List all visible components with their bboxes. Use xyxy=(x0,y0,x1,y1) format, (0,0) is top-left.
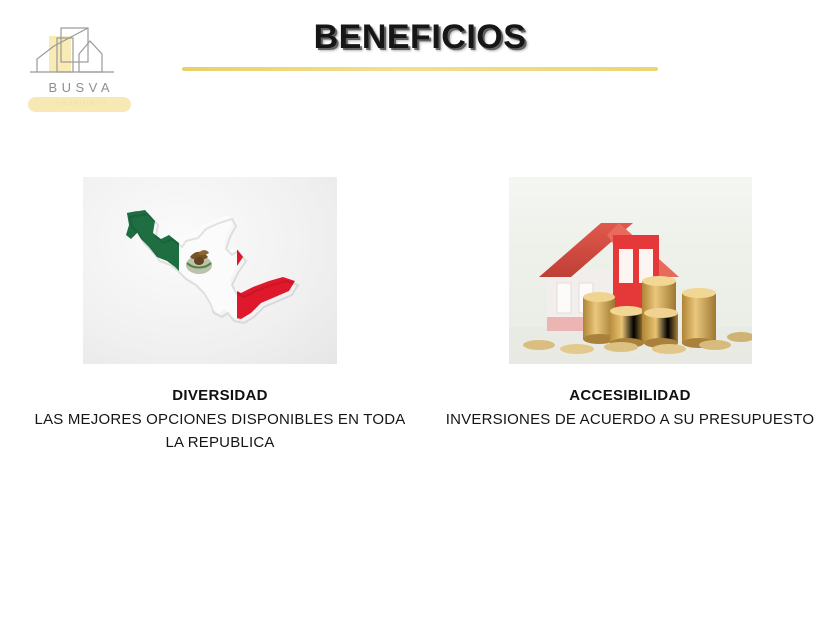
logo-wordmark: BUSVA xyxy=(24,80,134,95)
benefit-card-accesibilidad xyxy=(420,177,840,364)
title-underline-rule xyxy=(182,67,658,71)
map-of-mexico-flag-icon xyxy=(83,177,337,364)
benefit-caption-diversidad: DIVERSIDAD LAS MEJORES OPCIONES DISPONIB… xyxy=(10,386,430,454)
building-outline-icon xyxy=(24,24,134,86)
benefit-heading: ACCESIBILIDAD xyxy=(420,386,840,406)
house-coins-image xyxy=(509,177,752,364)
page-title: BENEFICIOS xyxy=(180,18,660,57)
benefit-description: LAS MEJORES OPCIONES DISPONIBLES EN TODA… xyxy=(10,408,430,454)
benefit-caption-accesibilidad: ACCESIBILIDAD INVERSIONES DE ACUERDO A S… xyxy=(420,386,840,431)
logo-tagline: inmobiliaria xyxy=(28,98,131,111)
benefit-card-diversidad xyxy=(0,177,420,364)
company-logo: BUSVA inmobiliaria xyxy=(24,24,134,122)
mexico-map-image xyxy=(83,177,337,364)
benefit-description: INVERSIONES DE ACUERDO A SU PRESUPUESTO xyxy=(420,408,840,431)
benefit-heading: DIVERSIDAD xyxy=(10,386,430,406)
house-with-coin-stacks-icon xyxy=(509,177,752,364)
